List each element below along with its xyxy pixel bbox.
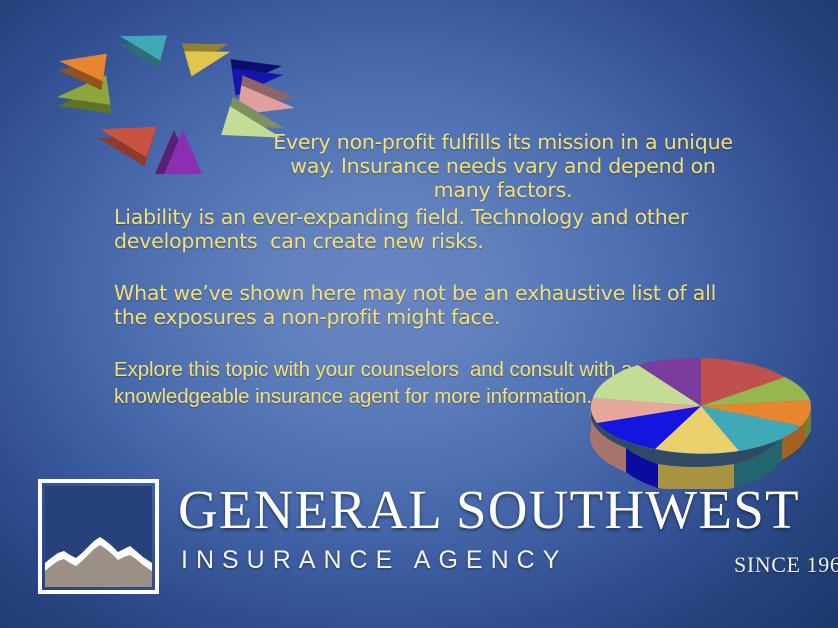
solid-pie-svg bbox=[586, 344, 816, 489]
company-subtitle: INSURANCE AGENCY bbox=[181, 548, 567, 573]
logo-mark-svg bbox=[38, 479, 159, 594]
pie-top-face bbox=[591, 358, 811, 454]
pie-slice-orange bbox=[56, 47, 107, 90]
slide-canvas: Every non-profit fulfills its mission in… bbox=[0, 0, 838, 628]
paragraph-1: Every non-profit fulfills its mission in… bbox=[268, 130, 738, 203]
since-badge: SINCE 1969 bbox=[734, 554, 838, 576]
paragraph-2: Liability is an ever-expanding field. Te… bbox=[114, 205, 734, 253]
pie-slice-red bbox=[94, 114, 156, 167]
company-logo: GENERAL SOUTHWEST INSURANCE AGENCY SINCE… bbox=[38, 476, 808, 596]
pie-slice-teal bbox=[115, 26, 167, 68]
pie-slice-purple bbox=[155, 130, 202, 174]
paragraph-4: Explore this topic with your counselors … bbox=[114, 357, 634, 410]
logo-wordmark: GENERAL SOUTHWEST INSURANCE AGENCY SINCE… bbox=[178, 476, 808, 594]
pie-slice-yellow bbox=[182, 32, 234, 77]
solid-3d-pie-chart bbox=[586, 344, 816, 489]
pie-slice-olive bbox=[55, 75, 112, 121]
mountain-landscape-icon bbox=[38, 479, 159, 594]
paragraph-3: What we’ve shown here may not be an exha… bbox=[114, 281, 734, 329]
company-name: GENERAL SOUTHWEST bbox=[178, 482, 800, 537]
